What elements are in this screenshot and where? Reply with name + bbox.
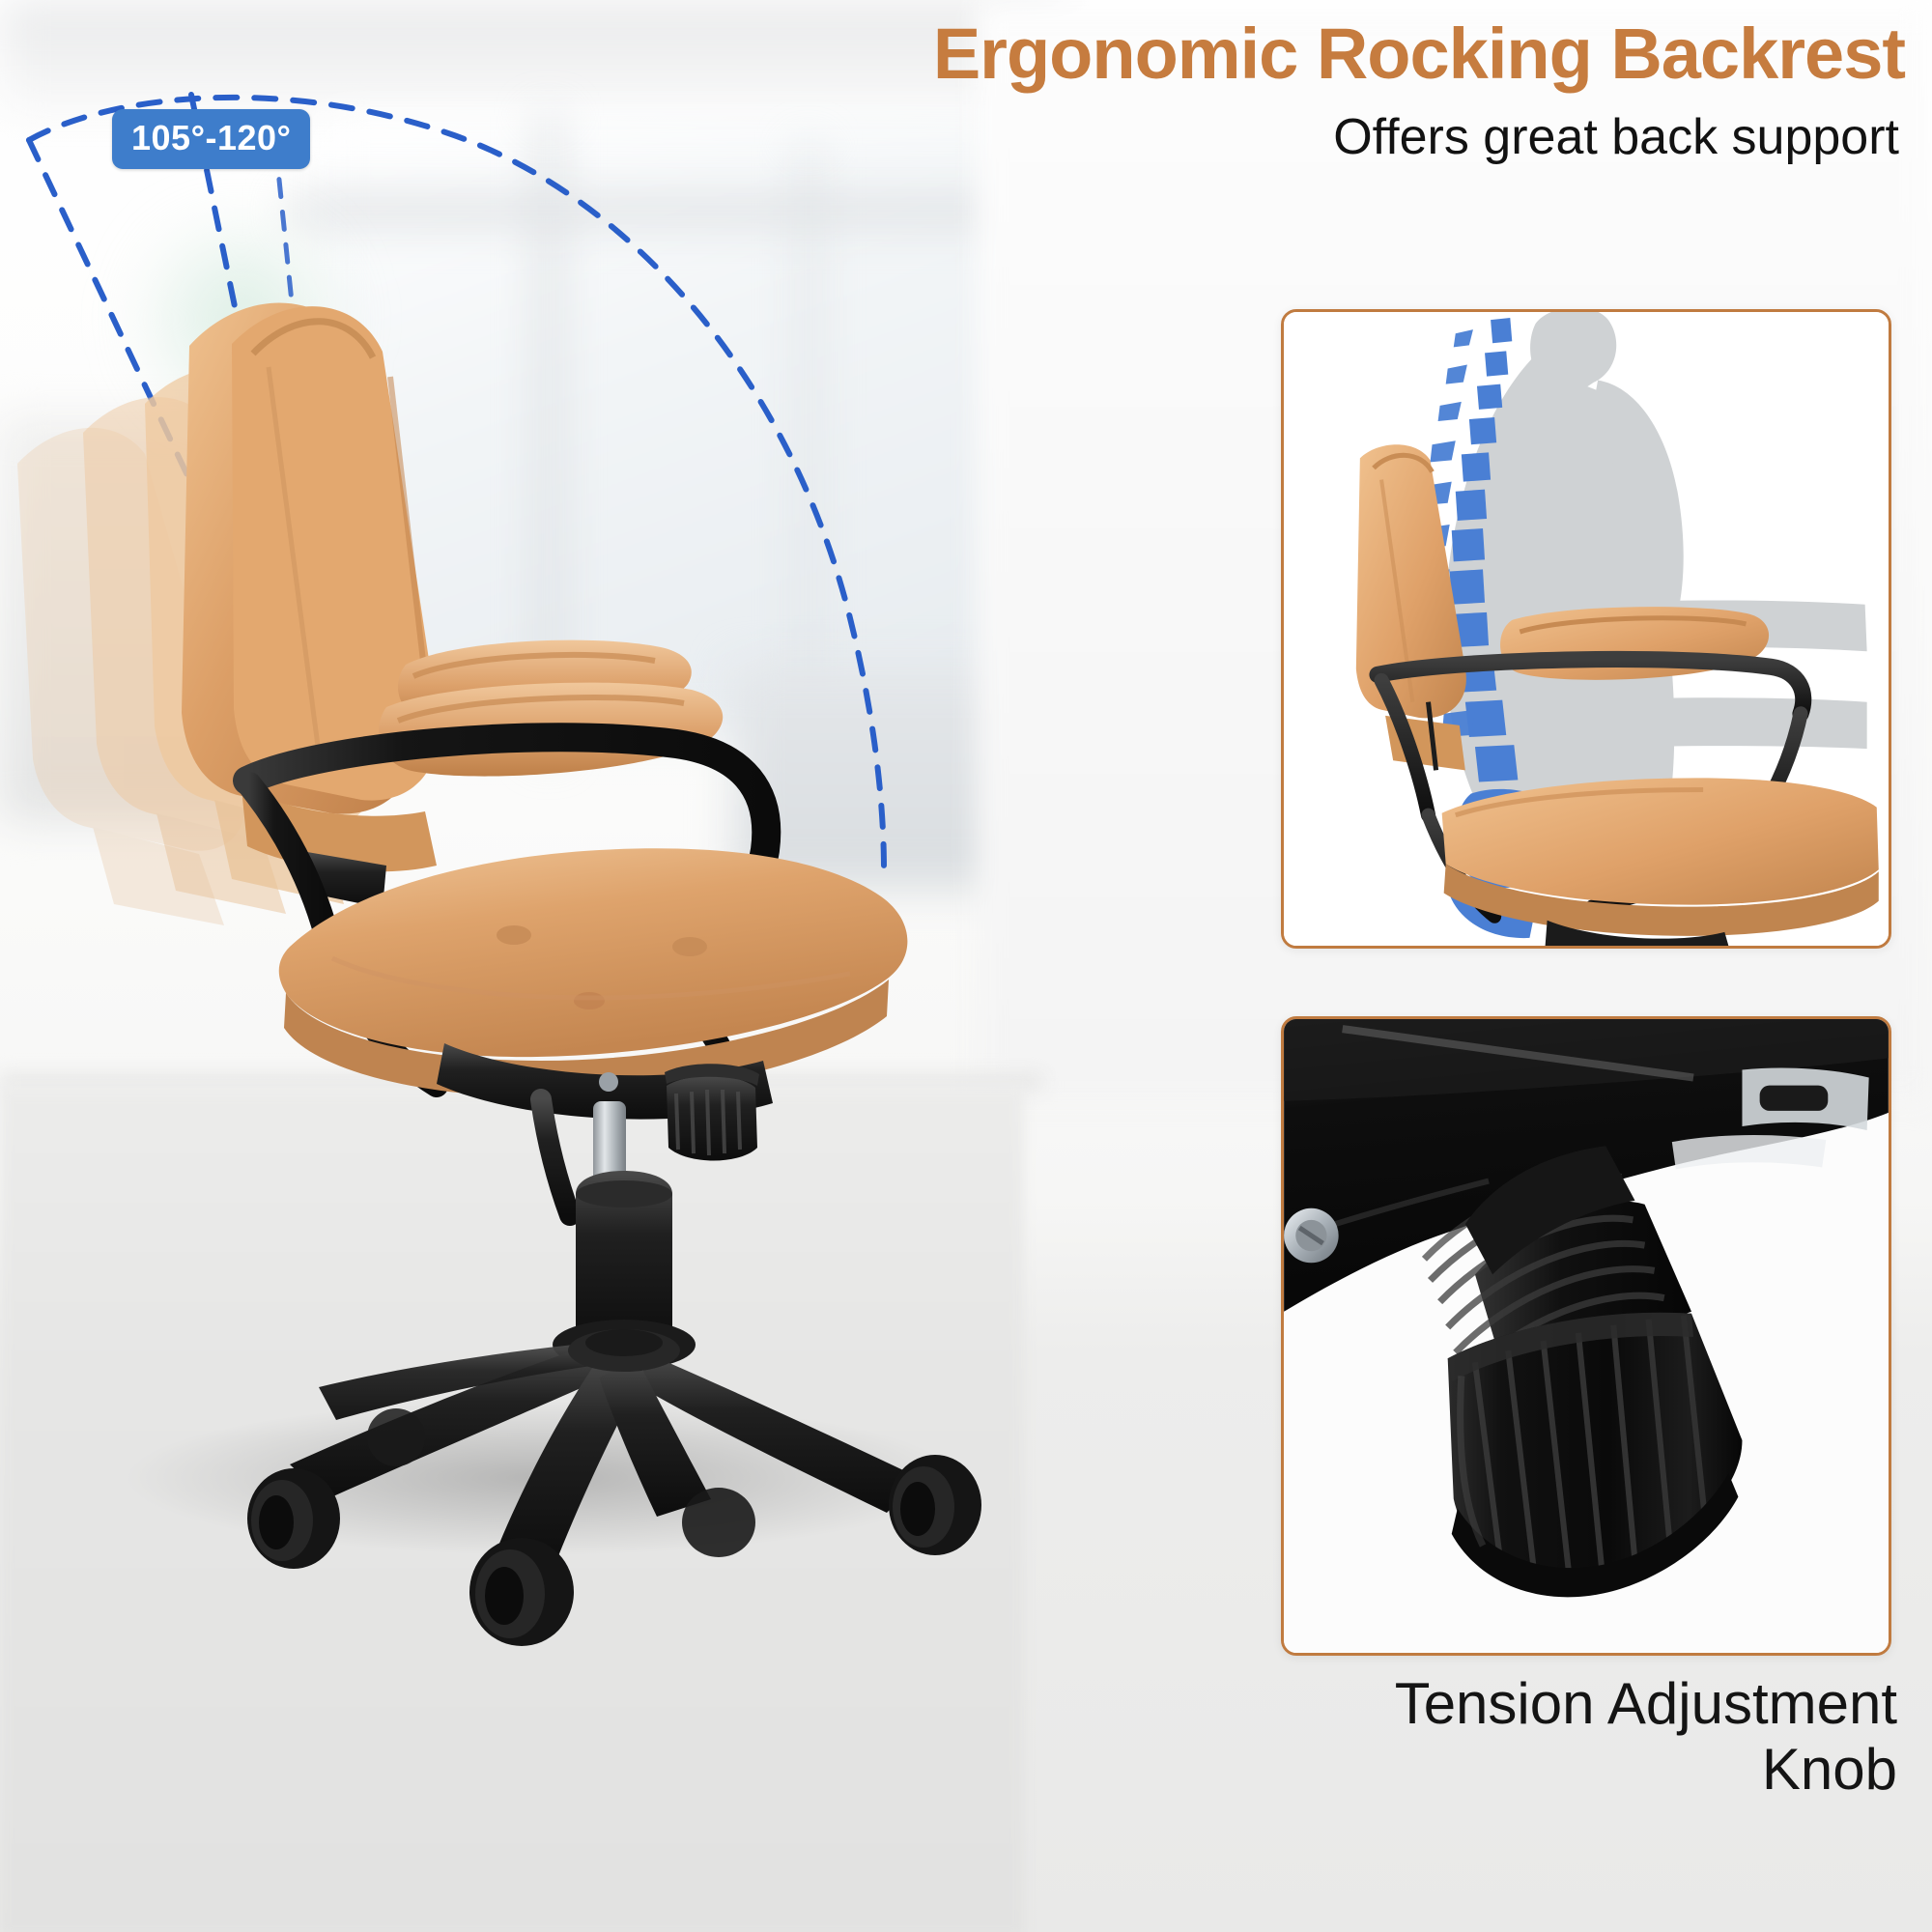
product-feature-image: Ergonomic Rocking Backrest Offers great … xyxy=(0,0,1932,1932)
caption-line-1: Tension Adjustment xyxy=(1028,1671,1897,1737)
office-chair-photo xyxy=(0,174,1024,1816)
page-subtitle: Offers great back support xyxy=(489,108,1899,166)
spine-support-inset xyxy=(1281,309,1891,949)
angle-range-badge: 105°-120° xyxy=(112,109,310,169)
caption-line-2: Knob xyxy=(1028,1737,1897,1803)
tension-knob-main xyxy=(665,1064,759,1160)
tension-knob-inset xyxy=(1281,1016,1891,1656)
page-title: Ergonomic Rocking Backrest xyxy=(495,17,1905,90)
tension-knob-caption: Tension Adjustment Knob xyxy=(1028,1671,1897,1804)
